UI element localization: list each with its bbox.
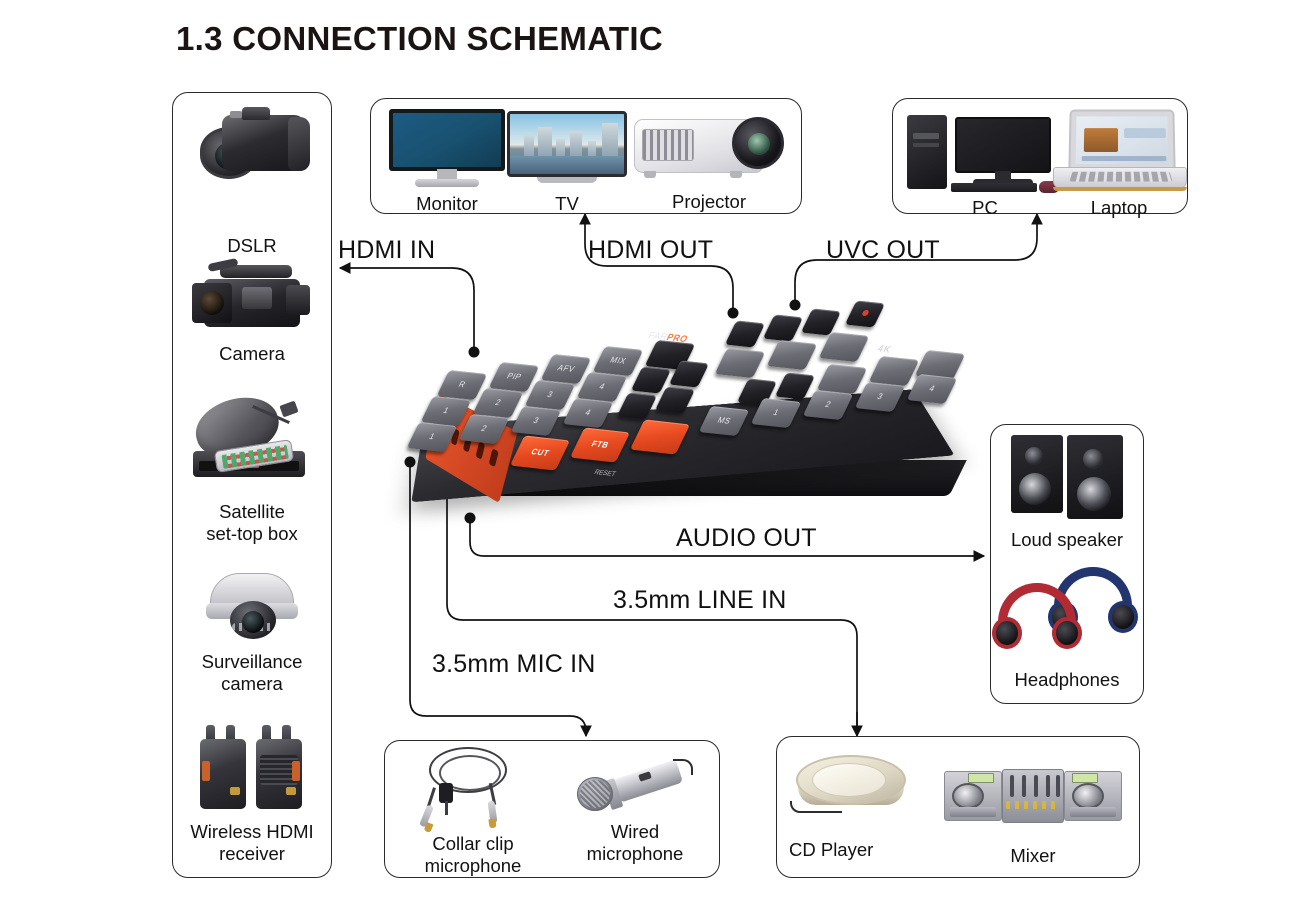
tv-icon bbox=[507, 111, 627, 189]
mic-label-collar-clip: Collar clip microphone bbox=[389, 833, 557, 877]
key-pgm-3[interactable]: 3 bbox=[511, 406, 562, 436]
key-pgm-1[interactable]: 1 bbox=[407, 422, 458, 452]
wireless-hdmi-receiver-icon bbox=[198, 725, 306, 811]
video-sources-panel: DSLR Camera Satellite set-top box Survei… bbox=[172, 92, 332, 878]
lavalier-microphone-icon bbox=[403, 747, 543, 831]
key-r-d3[interactable]: 3 bbox=[855, 382, 906, 412]
microphone-panel: Collar clip microphone Wired microphone bbox=[384, 740, 720, 878]
source-label-wireless-hdmi: Wireless HDMI receiver bbox=[173, 821, 331, 865]
video-switcher-device[interactable]: R PIP AFV MIX 1 2 3 4 1 2 3 4 CUT FTB RE… bbox=[398, 288, 978, 538]
audio-item-loudspeaker[interactable]: Loud speaker bbox=[991, 435, 1143, 551]
key-r-b2[interactable] bbox=[767, 340, 818, 370]
mic-label-wired: Wired microphone bbox=[553, 821, 717, 865]
line-item-cd-player[interactable]: CD Player bbox=[785, 753, 925, 861]
key-src-4[interactable]: 4 bbox=[577, 372, 628, 402]
connection-label-hdmi-in: HDMI IN bbox=[338, 236, 435, 265]
source-item-wireless-hdmi[interactable]: Wireless HDMI receiver bbox=[173, 725, 331, 865]
key-r-a1[interactable] bbox=[725, 320, 765, 347]
camcorder-icon bbox=[190, 261, 314, 335]
connection-label-hdmi-out: HDMI OUT bbox=[588, 236, 713, 265]
computer-item-laptop[interactable]: Laptop bbox=[1053, 109, 1185, 219]
source-label-dslr: DSLR bbox=[173, 235, 331, 257]
key-pip[interactable]: PIP bbox=[489, 362, 540, 392]
computer-devices-panel: PC Laptop bbox=[892, 98, 1188, 214]
desktop-pc-icon bbox=[907, 107, 1063, 195]
badge-4k: 4K bbox=[876, 343, 894, 354]
key-r-b3[interactable] bbox=[819, 332, 870, 362]
display-item-projector[interactable]: Projector bbox=[623, 113, 795, 213]
key-r-c2[interactable] bbox=[775, 372, 815, 399]
computer-label-pc: PC bbox=[903, 197, 1067, 219]
monitor-icon bbox=[389, 109, 505, 189]
audio-label-headphones: Headphones bbox=[991, 669, 1143, 691]
key-afv[interactable]: AFV bbox=[541, 354, 592, 384]
key-ftb[interactable]: FTB bbox=[570, 427, 630, 462]
key-src-2[interactable]: 2 bbox=[473, 388, 524, 418]
key-pgm-4[interactable]: 4 bbox=[563, 398, 614, 428]
key-mix[interactable]: MIX bbox=[593, 346, 644, 376]
laptop-icon bbox=[1053, 109, 1187, 193]
display-devices-panel: Monitor TV bbox=[370, 98, 802, 214]
display-item-monitor[interactable]: Monitor bbox=[379, 109, 515, 215]
computer-label-laptop: Laptop bbox=[1053, 197, 1185, 219]
mic-item-collar-clip[interactable]: Collar clip microphone bbox=[389, 747, 557, 877]
source-item-satellite[interactable]: Satellite set-top box bbox=[173, 399, 331, 545]
page-title: 1.3 CONNECTION SCHEMATIC bbox=[176, 20, 663, 58]
source-item-camera[interactable]: Camera bbox=[173, 261, 331, 365]
mic-item-wired[interactable]: Wired microphone bbox=[553, 755, 717, 865]
display-item-tv[interactable]: TV bbox=[499, 111, 635, 215]
key-r-c3[interactable] bbox=[817, 364, 868, 394]
display-label-monitor: Monitor bbox=[379, 193, 515, 215]
computer-item-pc[interactable]: PC bbox=[903, 107, 1067, 219]
dj-mixer-icon bbox=[944, 767, 1122, 827]
display-label-projector: Projector bbox=[623, 191, 795, 213]
headphones-icon bbox=[992, 567, 1142, 659]
connection-label-mic-in: 3.5mm MIC IN bbox=[432, 650, 596, 679]
key-aux-4[interactable] bbox=[655, 386, 695, 413]
source-label-surveillance: Surveillance camera bbox=[173, 651, 331, 695]
line-label-mixer: Mixer bbox=[933, 845, 1133, 867]
switcher-keys: R PIP AFV MIX 1 2 3 4 1 2 3 4 CUT FTB RE… bbox=[398, 288, 978, 538]
record-led bbox=[861, 310, 870, 317]
source-item-surveillance[interactable]: Surveillance camera bbox=[173, 571, 331, 695]
key-src-1[interactable]: 1 bbox=[421, 396, 472, 426]
loudspeaker-icon bbox=[1005, 435, 1129, 521]
dslr-camera-icon bbox=[196, 107, 308, 185]
connection-label-uvc-out: UVC OUT bbox=[826, 236, 940, 265]
key-pgm-2[interactable]: 2 bbox=[459, 414, 510, 444]
key-record-top[interactable] bbox=[845, 300, 885, 327]
key-r-b1[interactable] bbox=[715, 348, 766, 378]
key-ms[interactable]: MS bbox=[699, 406, 750, 436]
audio-label-loudspeaker: Loud speaker bbox=[991, 529, 1143, 551]
key-r-c4[interactable] bbox=[869, 356, 920, 386]
label-reset: RESET bbox=[593, 469, 617, 478]
key-r[interactable]: R bbox=[437, 370, 488, 400]
headphone-red bbox=[998, 583, 1076, 657]
display-label-tv: TV bbox=[499, 193, 635, 215]
key-aux-3[interactable] bbox=[617, 392, 657, 419]
audio-output-panel: Loud speaker Headphones bbox=[990, 424, 1144, 704]
satellite-dish-icon bbox=[189, 399, 315, 495]
audio-item-headphones[interactable]: Headphones bbox=[991, 567, 1143, 691]
key-r-a2[interactable] bbox=[763, 314, 803, 341]
key-r-d2[interactable]: 2 bbox=[803, 390, 854, 420]
line-source-panel: CD Player Mixer bbox=[776, 736, 1140, 878]
source-label-satellite: Satellite set-top box bbox=[173, 501, 331, 545]
cd-player-icon bbox=[796, 753, 914, 819]
key-record[interactable] bbox=[630, 419, 690, 454]
dome-camera-icon bbox=[204, 571, 300, 641]
line-label-cd-player: CD Player bbox=[785, 839, 925, 861]
connection-schematic-diagram: 1.3 CONNECTION SCHEMATIC HDMI IN HDMI OU… bbox=[0, 0, 1312, 900]
key-r-d4[interactable]: 4 bbox=[907, 374, 958, 404]
brand-label: FARPRO bbox=[647, 330, 690, 344]
projector-icon bbox=[634, 113, 784, 185]
source-label-camera: Camera bbox=[173, 343, 331, 365]
source-item-dslr[interactable]: DSLR bbox=[173, 107, 331, 257]
key-cut[interactable]: CUT bbox=[510, 435, 570, 470]
connection-label-line-in: 3.5mm LINE IN bbox=[613, 586, 786, 615]
handheld-microphone-icon bbox=[577, 755, 693, 821]
line-item-mixer[interactable]: Mixer bbox=[933, 767, 1133, 867]
key-src-3[interactable]: 3 bbox=[525, 380, 576, 410]
